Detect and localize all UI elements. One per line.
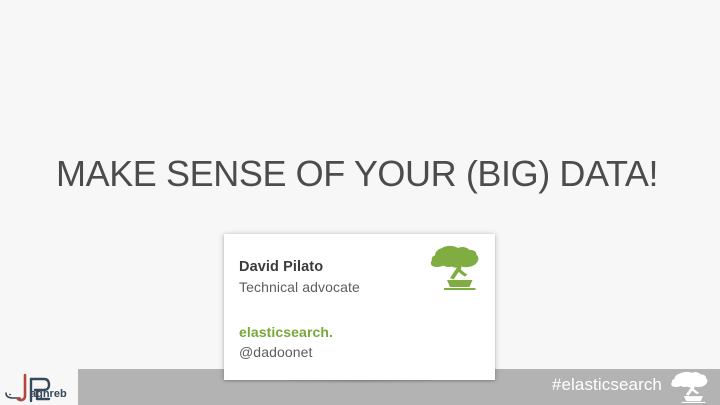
elasticsearch-bonsai-icon <box>427 244 483 294</box>
elasticsearch-bonsai-icon <box>668 371 712 403</box>
presentation-slide: MAKE SENSE OF YOUR (BIG) DATA! aghreb #e… <box>0 0 720 405</box>
footer-hashtag: #elasticsearch <box>552 375 662 395</box>
card-company-name: elasticsearch. <box>239 324 333 340</box>
card-person-role: Technical advocate <box>239 279 360 295</box>
business-card: David Pilato Technical advocate elastics… <box>224 234 495 380</box>
card-twitter-handle: @dadoonet <box>239 344 313 360</box>
jmaghreb-logo-icon: aghreb <box>4 369 76 405</box>
jmaghreb-logo-text: aghreb <box>30 388 67 400</box>
slide-title: MAKE SENSE OF YOUR (BIG) DATA! <box>56 152 676 196</box>
jmaghreb-logo: aghreb <box>0 369 78 405</box>
card-person-name: David Pilato <box>239 259 323 275</box>
